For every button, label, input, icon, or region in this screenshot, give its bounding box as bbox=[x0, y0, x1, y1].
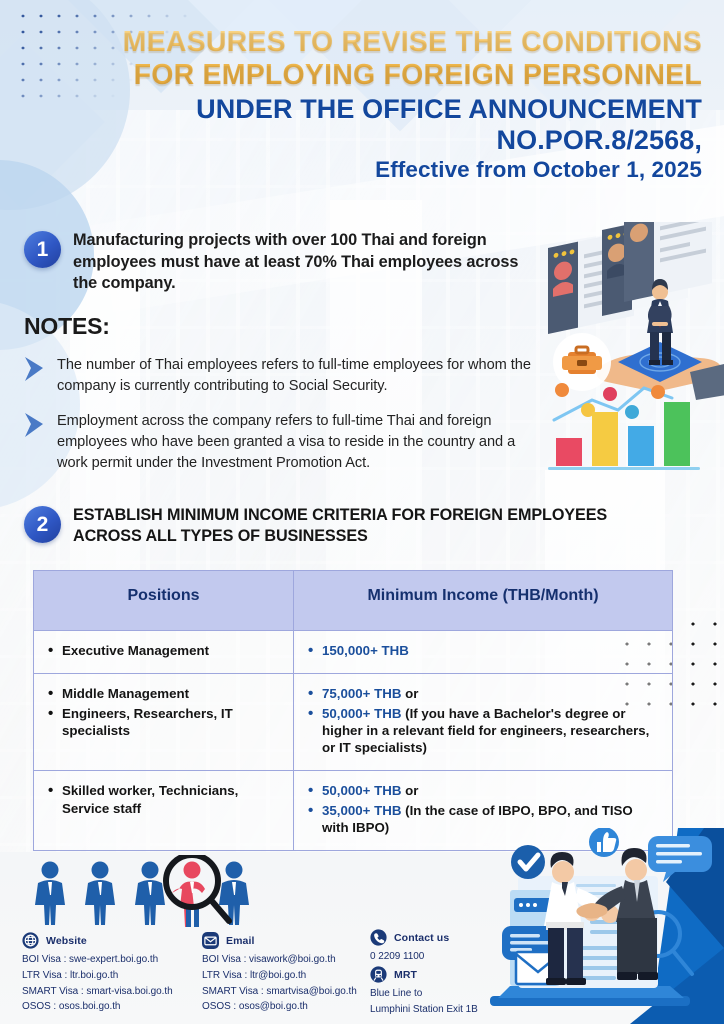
table-row: Middle Management Engineers, Researchers… bbox=[34, 674, 673, 771]
income-amount: 50,000+ THB bbox=[322, 706, 401, 721]
income-list: 75,000+ THB or 50,000+ THB (If you have … bbox=[306, 685, 660, 756]
page-title-line-1: MEASURES TO REVISE THE CONDITIONS bbox=[28, 26, 702, 59]
minimum-income-table: Positions Minimum Income (THB/Month) Exe… bbox=[33, 570, 673, 851]
table-header-row: Positions Minimum Income (THB/Month) bbox=[34, 571, 673, 631]
position-item: Executive Management bbox=[46, 642, 281, 659]
email-line[interactable]: OSOS : osos@boi.go.th bbox=[202, 999, 357, 1015]
email-line[interactable]: BOI Visa : visawork@boi.go.th bbox=[202, 952, 357, 968]
agreement-illustration bbox=[480, 828, 724, 1024]
website-line[interactable]: BOI Visa : swe-expert.boi.go.th bbox=[22, 952, 173, 968]
table-row: Executive Management 150,000+ THB bbox=[34, 631, 673, 674]
contact-heading-website: Website bbox=[22, 932, 173, 949]
income-amount: 50,000+ THB bbox=[322, 783, 401, 798]
table-column-header-income: Minimum Income (THB/Month) bbox=[294, 571, 673, 631]
contact-group-mrt: MRT Blue Line to Lumphini Station Exit 1… bbox=[370, 966, 478, 1018]
note-text: The number of Thai employees refers to f… bbox=[57, 355, 544, 396]
contact-label-website: Website bbox=[46, 935, 87, 947]
income-amount: 35,000+ THB bbox=[322, 803, 401, 818]
income-note: or bbox=[401, 783, 418, 798]
income-item: 50,000+ THB (If you have a Bachelor's de… bbox=[306, 705, 660, 757]
chevron-right-icon bbox=[24, 412, 46, 438]
table-cell-income: 75,000+ THB or 50,000+ THB (If you have … bbox=[294, 674, 673, 771]
section-1-number-badge: 1 bbox=[24, 231, 61, 268]
thumbs-up-icon bbox=[589, 828, 619, 857]
announcement-line-1: UNDER THE OFFICE ANNOUNCEMENT bbox=[28, 94, 702, 125]
agreement-illustration-svg bbox=[480, 828, 724, 1024]
note-text: Employment across the company refers to … bbox=[57, 411, 544, 473]
envelope-icon bbox=[202, 932, 219, 949]
section-1-row: 1 Manufacturing projects with over 100 T… bbox=[24, 230, 544, 295]
positions-list: Middle Management Engineers, Researchers… bbox=[46, 685, 281, 739]
position-item: Skilled worker, Technicians, Service sta… bbox=[46, 782, 281, 817]
income-list: 150,000+ THB bbox=[306, 642, 660, 659]
check-badge-icon bbox=[511, 845, 545, 879]
page-title-secondary: UNDER THE OFFICE ANNOUNCEMENT NO.POR.8/2… bbox=[28, 94, 702, 183]
talent-search-illustration bbox=[30, 855, 260, 927]
position-item: Engineers, Researchers, IT specialists bbox=[46, 705, 281, 740]
note-item: The number of Thai employees refers to f… bbox=[24, 355, 544, 396]
announcement-line-2: NO.POR.8/2568, bbox=[28, 125, 702, 156]
contact-group-email: Email BOI Visa : visawork@boi.go.th LTR … bbox=[202, 932, 357, 1015]
income-item: 75,000+ THB or bbox=[306, 685, 660, 702]
contact-heading-email: Email bbox=[202, 932, 357, 949]
contact-label-email: Email bbox=[226, 935, 255, 947]
phone-icon bbox=[370, 929, 387, 946]
income-amount: 75,000+ THB bbox=[322, 686, 401, 701]
section-2-number-badge: 2 bbox=[24, 506, 61, 543]
page-title-primary: MEASURES TO REVISE THE CONDITIONS FOR EM… bbox=[28, 26, 702, 92]
contact-group-website: Website BOI Visa : swe-expert.boi.go.th … bbox=[22, 932, 173, 1015]
positions-list: Skilled worker, Technicians, Service sta… bbox=[46, 782, 281, 817]
website-line[interactable]: SMART Visa : smart-visa.boi.go.th bbox=[22, 984, 173, 1000]
table-cell-positions: Skilled worker, Technicians, Service sta… bbox=[34, 771, 294, 851]
globe-icon bbox=[22, 932, 39, 949]
email-line[interactable]: LTR Visa : ltr@boi.go.th bbox=[202, 968, 357, 984]
notes-heading: NOTES: bbox=[24, 313, 544, 340]
table-cell-positions: Executive Management bbox=[34, 631, 294, 674]
contact-label-mrt: MRT bbox=[394, 969, 417, 981]
effective-date: Effective from October 1, 2025 bbox=[28, 157, 702, 183]
income-item: 150,000+ THB bbox=[306, 642, 660, 659]
table-head: Positions Minimum Income (THB/Month) bbox=[34, 571, 673, 631]
section-1: 1 Manufacturing projects with over 100 T… bbox=[24, 230, 544, 474]
highlighted-person-icon bbox=[172, 862, 205, 928]
phone-number[interactable]: 0 2209 1100 bbox=[370, 949, 449, 965]
recruitment-illustration-svg bbox=[540, 222, 724, 482]
income-note: or bbox=[401, 686, 418, 701]
income-item: 50,000+ THB or bbox=[306, 782, 660, 799]
website-line[interactable]: LTR Visa : ltr.boi.go.th bbox=[22, 968, 173, 984]
section-2-row: 2 ESTABLISH MINIMUM INCOME CRITERIA FOR … bbox=[24, 505, 664, 547]
mrt-line: Blue Line to bbox=[370, 986, 478, 1002]
poster-header: MEASURES TO REVISE THE CONDITIONS FOR EM… bbox=[0, 0, 724, 183]
table-body: Executive Management 150,000+ THB Middle… bbox=[34, 631, 673, 851]
section-1-text: Manufacturing projects with over 100 Tha… bbox=[73, 230, 544, 295]
infographic-poster: MEASURES TO REVISE THE CONDITIONS FOR EM… bbox=[0, 0, 724, 1024]
section-2: 2 ESTABLISH MINIMUM INCOME CRITERIA FOR … bbox=[24, 505, 664, 547]
chevron-right-icon bbox=[24, 356, 46, 382]
position-item: Middle Management bbox=[46, 685, 281, 702]
website-line[interactable]: OSOS : osos.boi.go.th bbox=[22, 999, 173, 1015]
recruitment-illustration bbox=[540, 222, 724, 482]
table-cell-positions: Middle Management Engineers, Researchers… bbox=[34, 674, 294, 771]
table-cell-income: 150,000+ THB bbox=[294, 631, 673, 674]
mrt-line: Lumphini Station Exit 1B bbox=[370, 1002, 478, 1018]
contact-label-phone: Contact us bbox=[394, 932, 449, 944]
email-line[interactable]: SMART Visa : smartvisa@boi.go.th bbox=[202, 984, 357, 1000]
note-item: Employment across the company refers to … bbox=[24, 411, 544, 473]
contact-heading-mrt: MRT bbox=[370, 966, 478, 983]
income-amount: 150,000+ THB bbox=[322, 643, 409, 658]
table-column-header-positions: Positions bbox=[34, 571, 294, 631]
contact-heading-phone: Contact us bbox=[370, 929, 449, 946]
section-2-heading: ESTABLISH MINIMUM INCOME CRITERIA FOR FO… bbox=[73, 505, 664, 547]
talent-search-svg bbox=[30, 855, 260, 927]
contact-group-phone: Contact us 0 2209 1100 bbox=[370, 929, 449, 965]
train-icon bbox=[370, 966, 387, 983]
page-title-line-2: FOR EMPLOYING FOREIGN PERSONNEL bbox=[28, 59, 702, 92]
positions-list: Executive Management bbox=[46, 642, 281, 659]
